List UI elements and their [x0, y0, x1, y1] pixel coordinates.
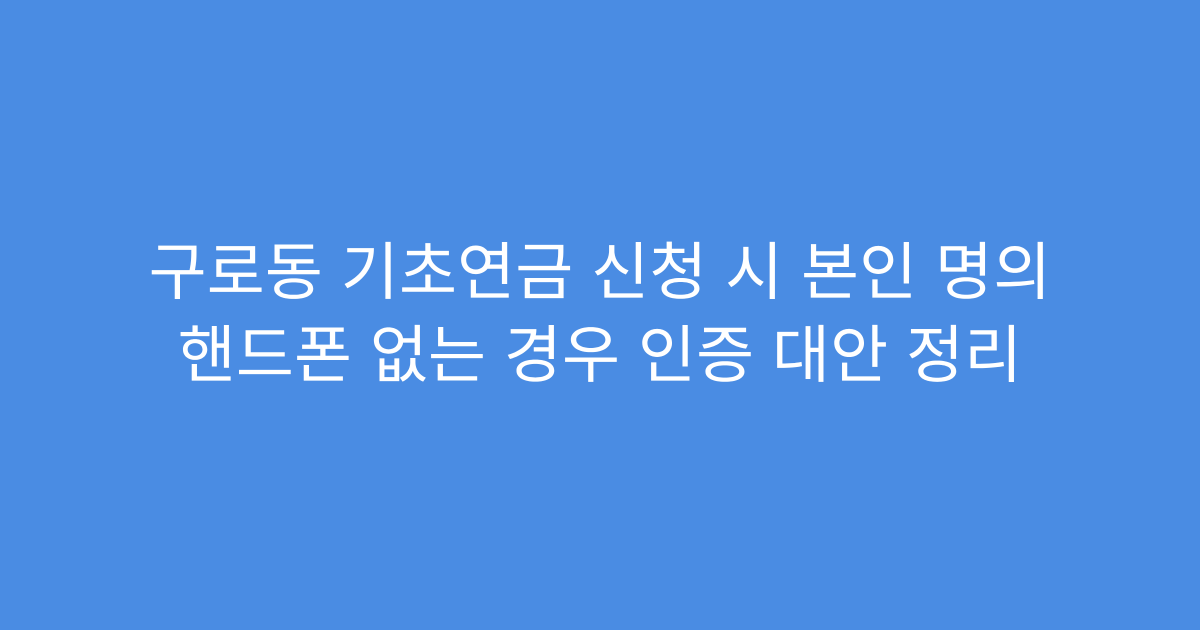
page-title: 구로동 기초연금 신청 시 본인 명의 핸드폰 없는 경우 인증 대안 정리	[64, 232, 1136, 398]
og-card: 구로동 기초연금 신청 시 본인 명의 핸드폰 없는 경우 인증 대안 정리	[0, 0, 1200, 630]
title-line-2: 핸드폰 없는 경우 인증 대안 정리	[64, 315, 1136, 398]
title-line-1: 구로동 기초연금 신청 시 본인 명의	[64, 232, 1136, 315]
